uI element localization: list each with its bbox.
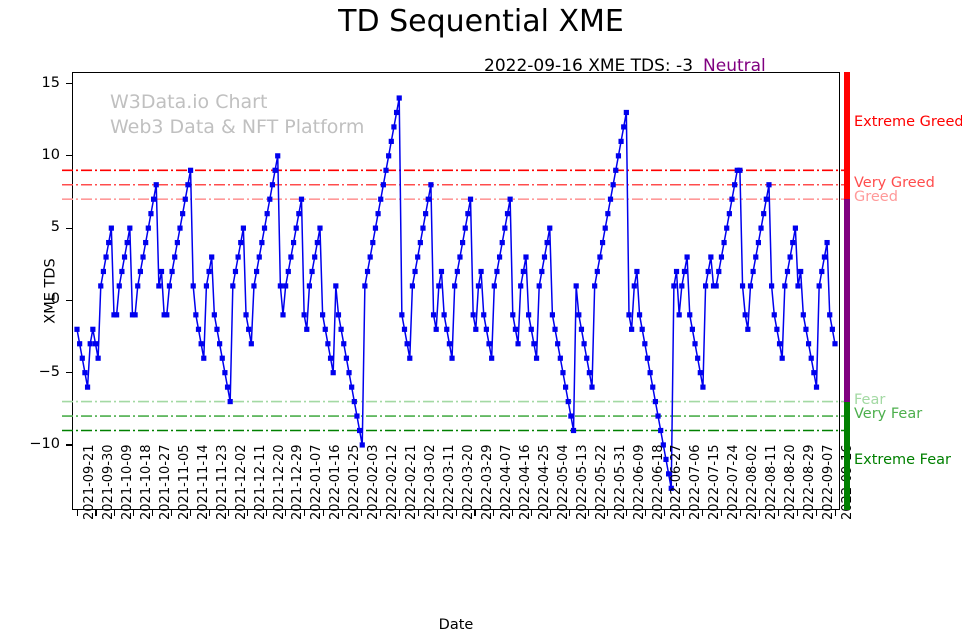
data-point-marker (581, 341, 586, 346)
data-point-marker (354, 413, 359, 418)
x-tick-label: 2021-12-20 (272, 444, 287, 520)
data-point-marker (370, 240, 375, 245)
data-point-marker (315, 240, 320, 245)
data-point-marker (595, 269, 600, 274)
data-point-marker (761, 211, 766, 216)
data-point-marker (442, 312, 447, 317)
data-point-marker (632, 283, 637, 288)
x-tick-label: 2021-12-11 (253, 444, 268, 520)
data-point-marker (471, 312, 476, 317)
data-point-marker (545, 240, 550, 245)
data-point-marker (368, 254, 373, 259)
data-point-marker (743, 312, 748, 317)
data-point-marker (751, 269, 756, 274)
data-point-marker (410, 283, 415, 288)
data-point-marker (431, 312, 436, 317)
data-point-marker (257, 254, 262, 259)
x-tick (361, 510, 362, 516)
data-point-marker (125, 240, 130, 245)
x-tick-label: 2022-01-07 (309, 444, 324, 520)
series-line (77, 98, 835, 488)
data-point-marker (819, 269, 824, 274)
data-point-marker (782, 283, 787, 288)
zone-label-extreme-fear: Extreme Fear (854, 452, 951, 468)
data-point-marker (225, 385, 230, 390)
x-tick (512, 510, 513, 516)
data-point-marker (399, 312, 404, 317)
x-tick-label: 2022-08-20 (783, 444, 798, 520)
x-tick-label: 2021-11-14 (196, 444, 211, 520)
data-point-marker (331, 370, 336, 375)
x-tick-label: 2022-01-25 (347, 444, 362, 520)
data-point-marker (645, 356, 650, 361)
data-point-marker (555, 341, 560, 346)
x-tick-label: 2022-08-29 (802, 444, 817, 520)
x-tick-label: 2022-05-04 (556, 444, 571, 520)
data-point-marker (777, 341, 782, 346)
data-point-marker (703, 283, 708, 288)
data-point-marker (423, 211, 428, 216)
data-point-marker (397, 95, 402, 100)
x-tick-label: 2021-09-21 (82, 444, 97, 520)
data-point-marker (695, 356, 700, 361)
data-point-marker (93, 341, 98, 346)
data-point-marker (603, 226, 608, 231)
x-tick (835, 510, 836, 516)
data-point-marker (228, 399, 233, 404)
x-tick-label: 2022-06-09 (632, 444, 647, 520)
data-point-marker (774, 327, 779, 332)
x-tick-label: 2022-02-03 (366, 444, 381, 520)
data-point-marker (531, 341, 536, 346)
data-point-marker (146, 226, 151, 231)
colorbar-segment-extreme-greed (844, 72, 850, 199)
x-tick-label: 2022-07-06 (688, 444, 703, 520)
data-point-marker (745, 327, 750, 332)
x-tick (323, 510, 324, 516)
data-point-marker (389, 139, 394, 144)
data-point-marker (291, 240, 296, 245)
data-point-marker (642, 341, 647, 346)
data-point-marker (209, 254, 214, 259)
x-tick (209, 510, 210, 516)
x-tick-label: 2022-03-11 (442, 444, 457, 520)
data-point-marker (822, 254, 827, 259)
data-point-marker (539, 269, 544, 274)
x-tick-label: 2021-11-05 (177, 444, 192, 520)
x-tick (152, 510, 153, 516)
data-point-marker (159, 269, 164, 274)
data-point-marker (426, 197, 431, 202)
data-point-marker (114, 312, 119, 317)
x-tick-label: 2022-07-15 (707, 444, 722, 520)
data-point-marker (457, 254, 462, 259)
data-point-marker (177, 226, 182, 231)
data-point-marker (788, 254, 793, 259)
data-point-marker (175, 240, 180, 245)
data-point-marker (106, 240, 111, 245)
data-point-marker (154, 182, 159, 187)
data-point-marker (486, 341, 491, 346)
data-point-marker (618, 139, 623, 144)
data-point-marker (624, 110, 629, 115)
x-tick-label: 2022-05-22 (594, 444, 609, 520)
data-point-marker (798, 269, 803, 274)
x-tick-label: 2022-06-27 (669, 444, 684, 520)
data-point-marker (468, 197, 473, 202)
data-point-marker (560, 370, 565, 375)
data-point-marker (214, 327, 219, 332)
data-point-marker (500, 240, 505, 245)
data-point-marker (727, 211, 732, 216)
data-point-marker (640, 327, 645, 332)
x-tick (456, 510, 457, 516)
data-point-marker (185, 182, 190, 187)
data-point-marker (119, 269, 124, 274)
data-point-marker (529, 327, 534, 332)
data-point-marker (692, 341, 697, 346)
data-point-marker (85, 385, 90, 390)
y-tick (66, 83, 72, 84)
data-point-marker (412, 269, 417, 274)
data-point-marker (375, 211, 380, 216)
data-point-marker (77, 341, 82, 346)
data-point-marker (563, 385, 568, 390)
data-point-marker (566, 399, 571, 404)
data-point-marker (658, 428, 663, 433)
data-point-marker (455, 269, 460, 274)
data-point-marker (336, 312, 341, 317)
data-point-marker (508, 197, 513, 202)
x-tick-label: 2022-02-12 (385, 444, 400, 520)
data-point-marker (579, 327, 584, 332)
data-point-marker (449, 356, 454, 361)
zone-label-greed: Greed (854, 189, 898, 205)
data-point-marker (259, 240, 264, 245)
data-point-marker (772, 312, 777, 317)
data-point-marker (339, 327, 344, 332)
y-tick-label: 5 (14, 219, 60, 235)
data-point-marker (325, 341, 330, 346)
x-axis-title: Date (72, 617, 840, 633)
data-point-marker (90, 327, 95, 332)
data-point-marker (299, 197, 304, 202)
data-point-marker (571, 428, 576, 433)
data-point-marker (96, 356, 101, 361)
data-point-marker (323, 327, 328, 332)
data-point-marker (156, 283, 161, 288)
data-point-marker (674, 269, 679, 274)
data-point-marker (341, 341, 346, 346)
x-tick (342, 510, 343, 516)
data-point-marker (180, 211, 185, 216)
data-point-marker (169, 269, 174, 274)
y-tick (66, 228, 72, 229)
data-point-marker (552, 327, 557, 332)
current-value-annotation: 2022-09-16 XME TDS: -3Neutral (484, 56, 766, 76)
x-tick-label: 2022-05-31 (613, 444, 628, 520)
data-point-marker (288, 254, 293, 259)
data-point-marker (328, 356, 333, 361)
data-point-marker (803, 327, 808, 332)
data-point-marker (88, 341, 93, 346)
x-tick (683, 510, 684, 516)
data-point-marker (526, 312, 531, 317)
data-point-marker (407, 356, 412, 361)
data-point-marker (698, 370, 703, 375)
x-tick (664, 510, 665, 516)
data-point-marker (307, 283, 312, 288)
data-point-marker (333, 283, 338, 288)
data-point-marker (98, 283, 103, 288)
x-tick-label: 2021-09-30 (101, 444, 116, 520)
data-point-marker (817, 283, 822, 288)
data-point-marker (164, 312, 169, 317)
data-point-marker (283, 283, 288, 288)
data-point-marker (196, 327, 201, 332)
data-point-marker (238, 240, 243, 245)
data-point-marker (732, 182, 737, 187)
data-point-marker (206, 269, 211, 274)
x-tick-label: 2022-08-02 (745, 444, 760, 520)
colorbar-segment-neutral (844, 199, 850, 401)
data-point-marker (391, 124, 396, 129)
zone-label-very-greed: Very Greed (854, 175, 935, 191)
data-point-marker (373, 226, 378, 231)
x-tick (77, 510, 78, 516)
data-point-marker (405, 341, 410, 346)
chart-root: TD Sequential XME W3Data.io Chart Web3 D… (0, 0, 962, 633)
data-point-marker (605, 211, 610, 216)
data-point-marker (117, 283, 122, 288)
data-point-marker (148, 211, 153, 216)
data-point-marker (151, 197, 156, 202)
data-point-marker (513, 327, 518, 332)
data-point-marker (357, 428, 362, 433)
data-point-marker (127, 226, 132, 231)
data-point-marker (138, 269, 143, 274)
y-tick-label: −5 (14, 364, 60, 380)
data-point-marker (542, 254, 547, 259)
data-point-marker (80, 356, 85, 361)
data-point-marker (793, 226, 798, 231)
data-point-marker (122, 254, 127, 259)
data-point-marker (766, 182, 771, 187)
data-point-marker (558, 356, 563, 361)
data-point-marker (832, 341, 837, 346)
x-tick (607, 510, 608, 516)
data-point-marker (756, 240, 761, 245)
data-point-marker (243, 312, 248, 317)
y-tick-label: −10 (14, 436, 60, 452)
data-point-marker (489, 356, 494, 361)
x-tick (399, 510, 400, 516)
x-tick (721, 510, 722, 516)
data-point-marker (584, 356, 589, 361)
x-tick-label: 2022-09-07 (821, 444, 836, 520)
data-point-marker (684, 254, 689, 259)
x-tick-label: 2022-02-21 (404, 444, 419, 520)
data-point-marker (439, 269, 444, 274)
data-point-marker (275, 153, 280, 158)
x-tick (626, 510, 627, 516)
x-tick-label: 2021-10-27 (158, 444, 173, 520)
data-point-marker (587, 370, 592, 375)
data-point-marker (597, 254, 602, 259)
data-point-marker (193, 312, 198, 317)
data-point-marker (478, 269, 483, 274)
x-tick-label: 2022-03-20 (461, 444, 476, 520)
data-point-marker (769, 283, 774, 288)
x-tick (550, 510, 551, 516)
y-tick (66, 444, 72, 445)
x-tick (247, 510, 248, 516)
data-point-marker (758, 226, 763, 231)
zone-label-extreme-greed: Extreme Greed (854, 114, 962, 130)
y-tick (66, 300, 72, 301)
data-point-marker (135, 283, 140, 288)
data-point-marker (785, 269, 790, 274)
data-point-marker (344, 356, 349, 361)
data-point-marker (365, 269, 370, 274)
x-tick-label: 2022-03-29 (480, 444, 495, 520)
data-point-marker (109, 226, 114, 231)
colorbar-segment-extreme-fear (844, 402, 850, 510)
annotation-status: Neutral (703, 56, 766, 76)
data-point-marker (505, 211, 510, 216)
x-tick-label: 2022-07-24 (726, 444, 741, 520)
data-point-marker (294, 226, 299, 231)
x-tick (778, 510, 779, 516)
data-point-marker (613, 168, 618, 173)
data-point-marker (764, 197, 769, 202)
data-point-marker (830, 327, 835, 332)
data-point-marker (172, 254, 177, 259)
data-point-marker (191, 283, 196, 288)
data-point-marker (547, 226, 552, 231)
data-point-marker (679, 283, 684, 288)
data-point-marker (447, 341, 452, 346)
data-point-marker (434, 327, 439, 332)
data-point-marker (82, 370, 87, 375)
data-point-marker (349, 385, 354, 390)
x-tick-label: 2021-12-29 (290, 444, 305, 520)
data-point-marker (320, 312, 325, 317)
x-tick (285, 510, 286, 516)
x-tick (493, 510, 494, 516)
data-point-marker (671, 283, 676, 288)
data-point-marker (748, 283, 753, 288)
chart-title: TD Sequential XME (0, 4, 962, 39)
x-tick-label: 2022-04-25 (537, 444, 552, 520)
data-point-marker (140, 254, 145, 259)
data-point-marker (394, 110, 399, 115)
data-point-marker (719, 254, 724, 259)
data-point-marker (302, 312, 307, 317)
data-point-marker (254, 269, 259, 274)
data-point-marker (621, 124, 626, 129)
data-point-marker (637, 312, 642, 317)
data-point-marker (476, 283, 481, 288)
data-point-marker (201, 356, 206, 361)
data-point-marker (267, 197, 272, 202)
data-point-marker (74, 327, 79, 332)
x-tick-label: 2021-12-02 (234, 444, 249, 520)
data-point-marker (534, 356, 539, 361)
data-point-marker (167, 283, 172, 288)
x-tick (380, 510, 381, 516)
data-point-marker (650, 385, 655, 390)
data-point-marker (296, 211, 301, 216)
data-point-marker (460, 240, 465, 245)
x-tick (816, 510, 817, 516)
data-point-marker (143, 240, 148, 245)
data-point-marker (444, 327, 449, 332)
x-tick (304, 510, 305, 516)
x-tick-label: 2021-11-23 (215, 444, 230, 520)
data-point-marker (592, 283, 597, 288)
data-point-marker (492, 283, 497, 288)
data-point-marker (473, 327, 478, 332)
data-point-marker (809, 356, 814, 361)
data-point-marker (714, 283, 719, 288)
data-point-marker (484, 327, 489, 332)
data-point-marker (576, 312, 581, 317)
x-tick-label: 2021-10-18 (139, 444, 154, 520)
data-point-marker (436, 283, 441, 288)
data-point-marker (402, 327, 407, 332)
data-point-marker (626, 312, 631, 317)
x-tick (474, 510, 475, 516)
x-tick (740, 510, 741, 516)
data-point-marker (262, 226, 267, 231)
data-point-marker (199, 341, 204, 346)
data-point-marker (415, 254, 420, 259)
data-point-marker (724, 226, 729, 231)
x-tick (190, 510, 191, 516)
data-point-marker (523, 254, 528, 259)
data-point-marker (381, 182, 386, 187)
data-point-marker (510, 312, 515, 317)
data-point-marker (236, 254, 241, 259)
data-point-marker (589, 385, 594, 390)
data-point-marker (309, 269, 314, 274)
y-tick-label: 0 (14, 291, 60, 307)
data-point-marker (212, 312, 217, 317)
data-point-marker (265, 211, 270, 216)
x-tick (437, 510, 438, 516)
data-point-marker (502, 226, 507, 231)
data-point-marker (824, 240, 829, 245)
data-point-marker (362, 283, 367, 288)
x-tick-label: 2022-03-02 (423, 444, 438, 520)
x-tick (588, 510, 589, 516)
x-tick (171, 510, 172, 516)
y-tick-label: 10 (14, 147, 60, 163)
data-point-marker (272, 168, 277, 173)
data-point-marker (220, 356, 225, 361)
data-point-marker (378, 197, 383, 202)
data-point-marker (241, 226, 246, 231)
y-tick (66, 155, 72, 156)
data-point-marker (481, 312, 486, 317)
data-point-marker (574, 283, 579, 288)
data-point-marker (690, 327, 695, 332)
data-point-marker (286, 269, 291, 274)
zone-label-very-fear: Very Fear (854, 406, 922, 422)
data-point-marker (133, 312, 138, 317)
data-point-marker (428, 182, 433, 187)
